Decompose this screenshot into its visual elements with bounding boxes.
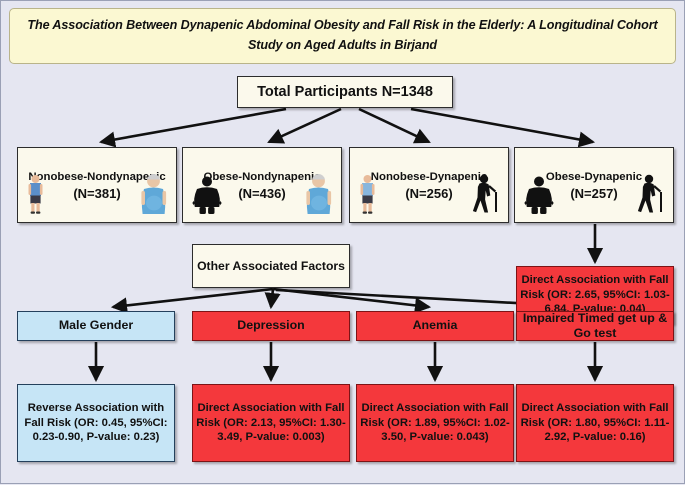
outcome-box-male-gender: Reverse Association with Fall Risk (OR: … [17,384,175,462]
factor-box-anemia: Anemia [356,311,514,341]
other-associated-factors-label: Other Associated Factors [197,258,345,274]
other-associated-factors-box: Other Associated Factors [192,244,350,288]
outcome-text: Direct Association with Fall Risk (OR: 2… [193,401,349,444]
arrow-other-to-factor0 [113,289,273,307]
walking-cane-silhouette-icon [638,174,664,219]
obese-elderly-man-icon [305,174,332,219]
outcome-text: Reverse Association with Fall Risk (OR: … [18,401,174,444]
figure-title: The Association Between Dynapenic Abdomi… [22,16,663,55]
factor-box-male-gender: Male Gender [17,311,175,341]
walking-cane-silhouette-icon [473,174,499,219]
arrow-other-to-factor2 [273,289,429,307]
group-count: (N=436) [238,185,285,203]
group-box-nonobese-nondynapenic: Nonobese-Nondynapenic (N=381) [17,147,177,223]
total-participants-box: Total Participants N=1348 [237,76,453,108]
group-box-nonobese-dynapenic: Nonobese-Dynapenic (N=256) [349,147,509,223]
flowchart-canvas: The Association Between Dynapenic Abdomi… [0,0,685,484]
outcome-box-anemia: Direct Association with Fall Risk (OR: 1… [356,384,514,462]
arrow-other-to-factor1 [271,289,273,307]
obese-silhouette-icon [524,176,554,219]
standing-man-icon [27,174,44,219]
outcome-box-timed-get-up-and-go: Direct Association with Fall Risk (OR: 1… [516,384,674,462]
obese-elderly-man-icon [140,174,167,219]
group-box-obese-nondynapenic: Obese-Nondynapenic (N=436) [182,147,342,223]
arrow-total-to-group1 [269,109,341,142]
group-name: Obese-Dynapenic [546,170,642,184]
outcome-text: Direct Association with Fall Risk (OR: 1… [517,401,673,444]
arrow-total-to-group3 [411,109,593,142]
factor-label: Impaired Timed get up & Go test [517,311,673,342]
group-count: (N=381) [73,185,120,203]
factor-label: Male Gender [59,318,133,334]
factor-box-timed-get-up-and-go: Impaired Timed get up & Go test [516,311,674,341]
factor-box-depression: Depression [192,311,350,341]
obese-silhouette-icon [192,176,222,219]
standing-man-icon [359,174,376,219]
arrow-total-to-group2 [359,109,429,142]
group-name: Nonobese-Dynapenic [371,170,487,184]
figure-title-bar: The Association Between Dynapenic Abdomi… [9,8,676,64]
factor-label: Depression [237,318,304,334]
outcome-text: Direct Association with Fall Risk (OR: 1… [357,401,513,444]
factor-label: Anemia [413,318,458,334]
total-participants-label: Total Participants N=1348 [257,84,433,100]
group-box-obese-dynapenic: Obese-Dynapenic (N=257) [514,147,674,223]
arrow-total-to-group0 [101,109,286,142]
group-count: (N=257) [570,185,617,203]
outcome-box-depression: Direct Association with Fall Risk (OR: 2… [192,384,350,462]
group-count: (N=256) [405,185,452,203]
